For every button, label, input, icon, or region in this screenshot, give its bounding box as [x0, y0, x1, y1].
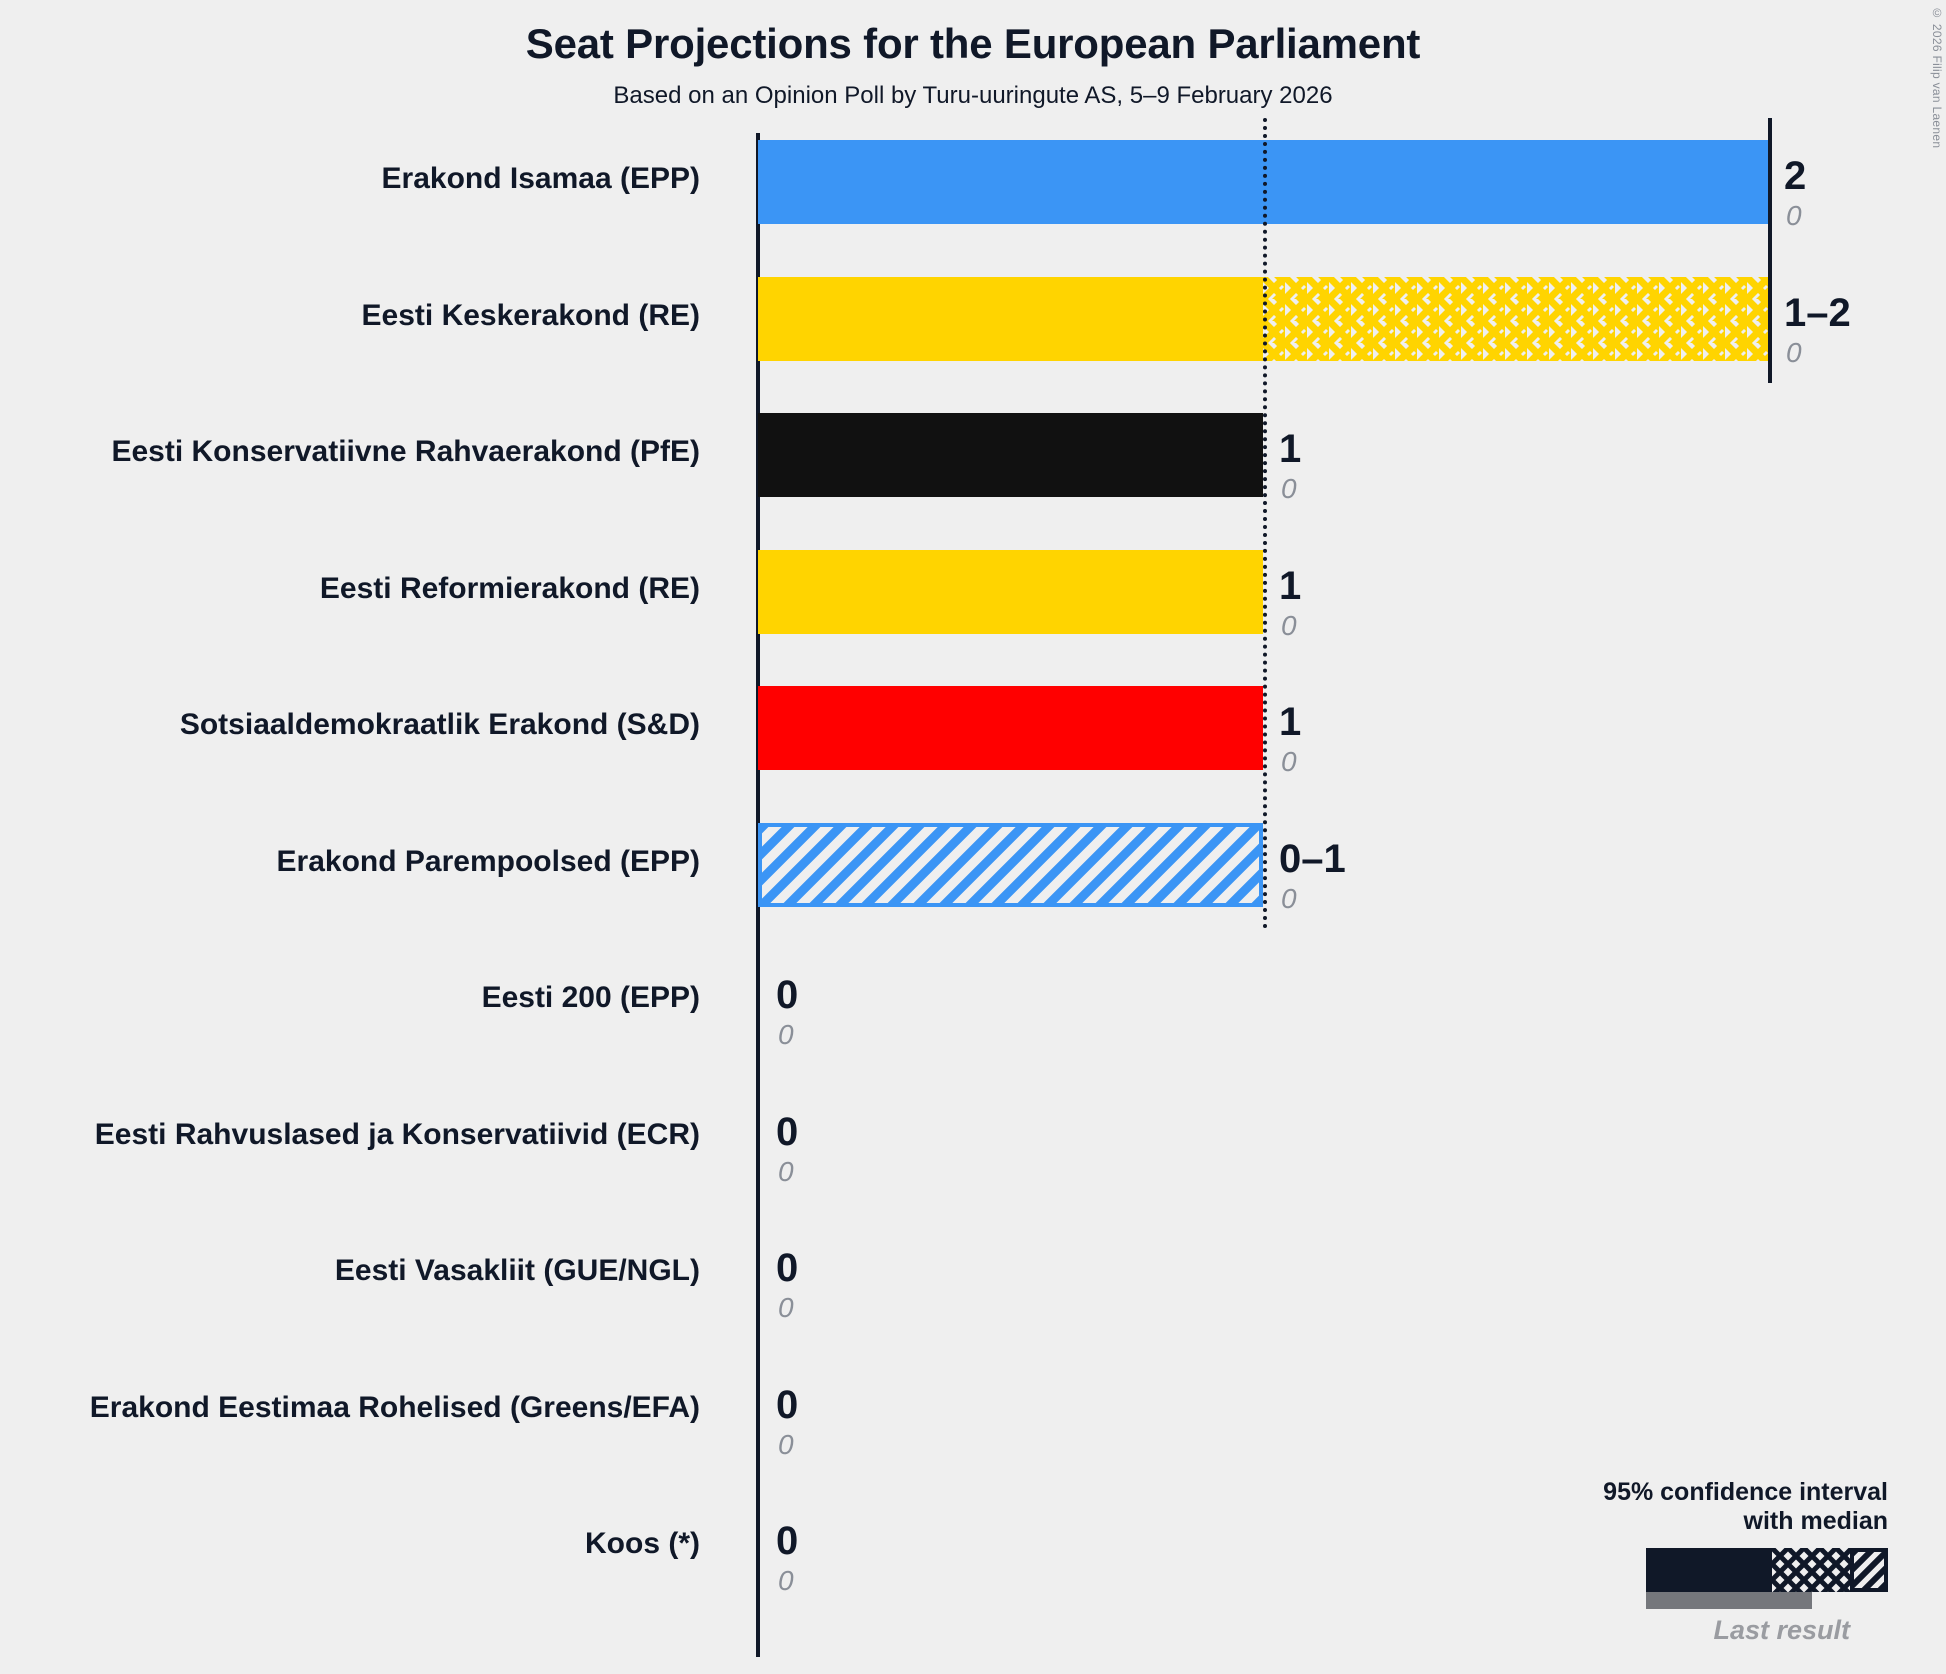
seat-value-label: 1 — [1279, 566, 1301, 606]
bar-row: Eesti Konservatiivne Rahvaerakond (PfE)1… — [0, 413, 1946, 497]
last-result-value-label: 0 — [1786, 202, 1802, 230]
legend-ci-bar — [1646, 1548, 1888, 1592]
median-bar — [758, 550, 1263, 634]
seat-value-label: 0 — [776, 1112, 798, 1152]
legend-diagonal-swatch — [1850, 1548, 1888, 1592]
bar-row: Erakond Isamaa (EPP)20 — [0, 140, 1946, 224]
last-result-value-label: 0 — [1281, 612, 1297, 640]
seat-value-label: 0 — [776, 1521, 798, 1561]
party-label: Eesti Keskerakond (RE) — [0, 299, 700, 333]
bar-row: Eesti Vasakliit (GUE/NGL)00 — [0, 1232, 1946, 1316]
last-result-value-label: 0 — [1281, 748, 1297, 776]
bar-row: Sotsiaaldemokraatlik Erakond (S&D)10 — [0, 686, 1946, 770]
legend-last-result-label: Last result — [1568, 1615, 1850, 1646]
bar-row: Eesti Reformierakond (RE)10 — [0, 550, 1946, 634]
last-result-value-label: 0 — [1281, 885, 1297, 913]
legend-crosshatch-swatch — [1772, 1548, 1850, 1592]
legend-caption: 95% confidence interval with median — [1568, 1478, 1888, 1536]
party-label: Eesti Konservatiivne Rahvaerakond (PfE) — [0, 435, 700, 469]
party-label: Eesti Rahvuslased ja Konservatiivid (ECR… — [0, 1118, 700, 1152]
seat-value-label: 2 — [1784, 156, 1806, 196]
party-label: Sotsiaaldemokraatlik Erakond (S&D) — [0, 708, 700, 742]
seat-value-label: 0–1 — [1279, 839, 1346, 879]
bar-row: Erakond Eestimaa Rohelised (Greens/EFA)0… — [0, 1369, 1946, 1453]
party-label: Erakond Eestimaa Rohelised (Greens/EFA) — [0, 1391, 700, 1425]
last-result-value-label: 0 — [778, 1431, 794, 1459]
legend-caption-line1: 95% confidence interval — [1568, 1478, 1888, 1507]
median-bar — [758, 413, 1263, 497]
party-label: Eesti Vasakliit (GUE/NGL) — [0, 1254, 700, 1288]
bar-row: Eesti 200 (EPP)00 — [0, 959, 1946, 1043]
seat-value-label: 0 — [776, 975, 798, 1015]
last-result-value-label: 0 — [1786, 339, 1802, 367]
last-result-value-label: 0 — [778, 1294, 794, 1322]
seat-value-label: 0 — [776, 1385, 798, 1425]
median-bar — [758, 686, 1263, 770]
bar-row: Eesti Rahvuslased ja Konservatiivid (ECR… — [0, 1096, 1946, 1180]
bar-row: Erakond Parempoolsed (EPP)0–10 — [0, 823, 1946, 907]
legend: 95% confidence interval with median Last… — [1568, 1478, 1888, 1646]
median-bar — [758, 277, 1263, 361]
seat-value-label: 1 — [1279, 429, 1301, 469]
ci-bar-crosshatch — [1263, 277, 1768, 361]
legend-caption-line2: with median — [1568, 1507, 1888, 1536]
party-label: Erakond Isamaa (EPP) — [0, 162, 700, 196]
last-result-value-label: 0 — [1281, 475, 1297, 503]
party-label: Koos (*) — [0, 1527, 700, 1561]
seat-value-label: 0 — [776, 1248, 798, 1288]
party-label: Eesti 200 (EPP) — [0, 981, 700, 1015]
bar-row: Eesti Keskerakond (RE)1–20 — [0, 277, 1946, 361]
seat-value-label: 1–2 — [1784, 293, 1851, 333]
last-result-value-label: 0 — [778, 1021, 794, 1049]
last-result-value-label: 0 — [778, 1158, 794, 1186]
seat-projection-chart: Erakond Isamaa (EPP)20Eesti Keskerakond … — [0, 0, 1946, 1674]
party-label: Eesti Reformierakond (RE) — [0, 572, 700, 606]
legend-last-result-bar — [1646, 1592, 1812, 1609]
party-label: Erakond Parempoolsed (EPP) — [0, 845, 700, 879]
last-result-value-label: 0 — [778, 1567, 794, 1595]
gridline-1-seat — [1263, 118, 1267, 929]
gridline-2-seats — [1768, 118, 1772, 383]
seat-value-label: 1 — [1279, 702, 1301, 742]
ci-bar-hatched — [758, 823, 1263, 907]
